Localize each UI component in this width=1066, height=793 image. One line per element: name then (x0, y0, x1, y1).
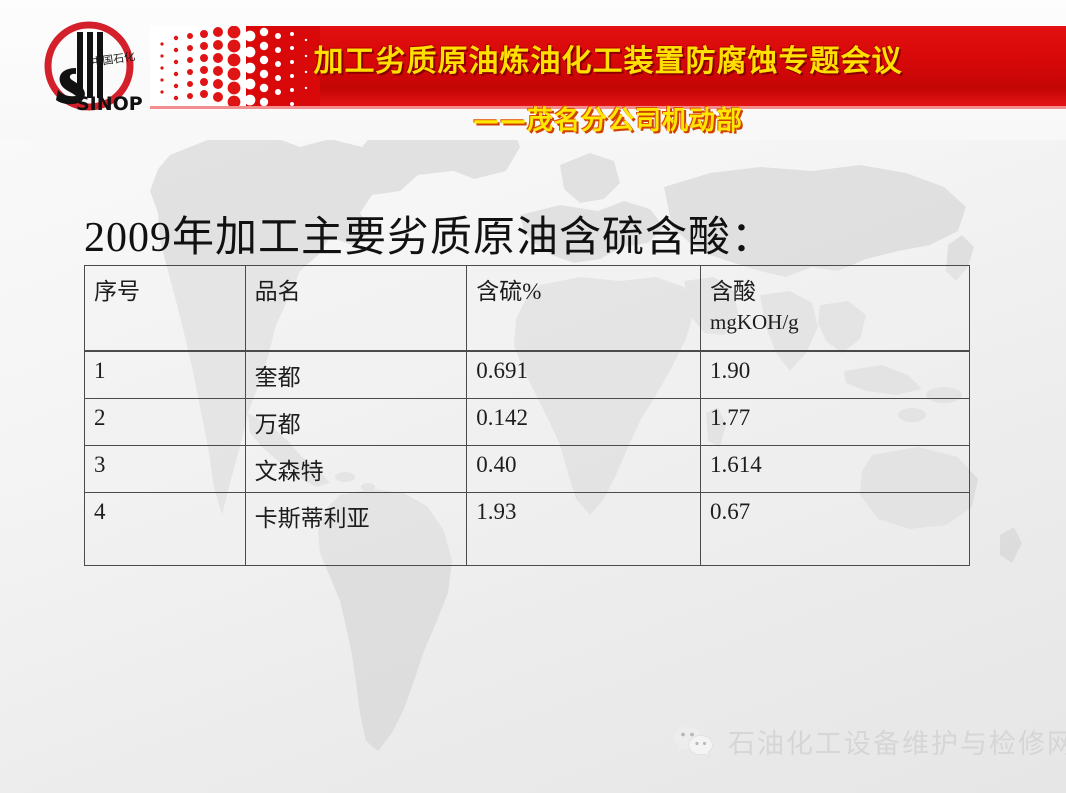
th-acid-label: 含酸 (710, 279, 756, 304)
cell-acid: 1.614 (700, 446, 969, 493)
th-acid-unit: mgKOH/g (710, 310, 959, 335)
svg-text:SINOPEC: SINOPEC (76, 93, 142, 115)
cell-sulfur: 0.691 (467, 351, 701, 399)
th-index: 序号 (85, 266, 246, 352)
page-title: 2009年加工主要劣质原油含硫含酸： (84, 203, 774, 264)
th-sulfur-content: 含硫% (467, 266, 701, 352)
cell-sulfur: 0.142 (467, 399, 701, 446)
cell-index: 3 (85, 446, 246, 493)
table-body: 1 奎都 0.691 1.90 2 万都 0.142 1.77 3 文森特 0.… (85, 351, 970, 566)
wechat-icon (672, 724, 714, 760)
cell-sulfur: 1.93 (467, 493, 701, 566)
slide-canvas: SINOPEC 中国石化 (0, 0, 1066, 793)
table-header-row: 序号 品名 含硫% 含酸 mgKOH/g (85, 266, 970, 352)
cell-acid: 1.77 (700, 399, 969, 446)
sinopec-logo: SINOPEC 中国石化 (36, 16, 142, 120)
cell-product-name: 卡斯蒂利亚 (245, 493, 467, 566)
header-band: SINOPEC 中国石化 (0, 0, 1066, 140)
cell-index: 4 (85, 493, 246, 566)
table-row: 4 卡斯蒂利亚 1.93 0.67 (85, 493, 970, 566)
cell-product-name: 文森特 (245, 446, 467, 493)
th-acid-content: 含酸 mgKOH/g (700, 266, 969, 352)
cell-acid: 1.90 (700, 351, 969, 399)
cell-index: 2 (85, 399, 246, 446)
footer-watermark-text: 石油化工设备维护与检修网 (728, 722, 1066, 761)
crude-oil-table: 序号 品名 含硫% 含酸 mgKOH/g 1 奎都 0.691 1.90 2 万… (84, 265, 970, 566)
conference-title: 加工劣质原油炼油化工装置防腐蚀专题会议 (150, 36, 1066, 80)
cell-acid: 0.67 (700, 493, 969, 566)
table-row: 2 万都 0.142 1.77 (85, 399, 970, 446)
cell-product-name: 万都 (245, 399, 467, 446)
cell-product-name: 奎都 (245, 351, 467, 399)
cell-index: 1 (85, 351, 246, 399)
table-row: 1 奎都 0.691 1.90 (85, 351, 970, 399)
conference-subtitle: ——茂名分公司机动部 (150, 100, 1066, 137)
table-header: 序号 品名 含硫% 含酸 mgKOH/g (85, 266, 970, 352)
table-row: 3 文森特 0.40 1.614 (85, 446, 970, 493)
footer-watermark: 石油化工设备维护与检修网 (672, 722, 1066, 761)
cell-sulfur: 0.40 (467, 446, 701, 493)
th-product-name: 品名 (245, 266, 467, 352)
